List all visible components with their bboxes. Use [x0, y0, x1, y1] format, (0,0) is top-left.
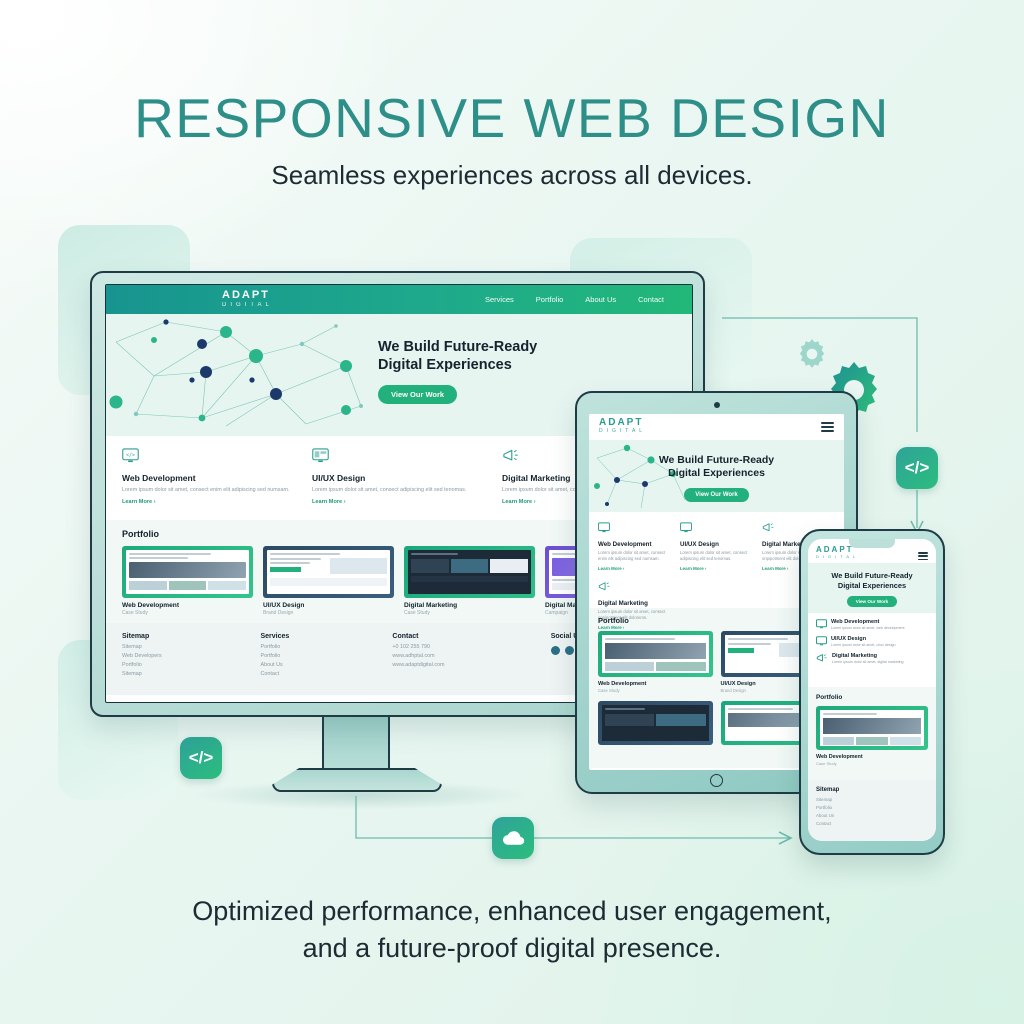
- code-window-icon: [598, 522, 610, 533]
- phone-screen: ADAPT DIGITAL We Build Future-Ready Digi…: [808, 539, 936, 841]
- tablet-hamburger-menu-icon[interactable]: [821, 422, 834, 432]
- code-badge-right: </>: [896, 447, 938, 489]
- service-card-body: Lorem ipsum dolor sit amet, consect enim…: [598, 550, 671, 562]
- hero-title-line-1: We Build Future-Ready: [659, 454, 774, 466]
- service-card-body: Lorem ipsum dolor sit amet, consect adip…: [680, 550, 753, 562]
- service-item-title: UI/UX Design: [831, 636, 896, 642]
- footer-link[interactable]: Contact: [261, 671, 393, 677]
- page-footnote: Optimized performance, enhanced user eng…: [0, 893, 1024, 967]
- portfolio-thumbnail: [263, 546, 394, 598]
- footer-column: Services Portfolio Portfolio About Us Co…: [261, 633, 393, 695]
- footer-heading: Contact: [392, 633, 550, 640]
- nav-item-about[interactable]: About Us: [585, 295, 616, 304]
- footnote-line-2: and a future-proof digital presence.: [0, 930, 1024, 967]
- footer-link[interactable]: Portfolio: [816, 805, 928, 810]
- portfolio-thumbnail: [816, 706, 928, 750]
- service-card-title: Web Development: [122, 473, 296, 483]
- list-item[interactable]: UI/UX Design Lorem ipsum dolor sit amet,…: [816, 636, 928, 647]
- nav-item-portfolio[interactable]: Portfolio: [536, 295, 564, 304]
- portfolio-caption: Web Development: [598, 681, 713, 687]
- phone-logo: ADAPT DIGITAL: [816, 546, 859, 560]
- phone-device: ADAPT DIGITAL We Build Future-Ready Digi…: [799, 529, 945, 855]
- portfolio-subcaption: Case Study: [816, 761, 928, 766]
- service-card-link[interactable]: Learn More ›: [122, 499, 296, 505]
- service-item-title: Web Development: [831, 619, 905, 625]
- portfolio-subcaption: Case Study: [404, 610, 535, 616]
- logo-sub: DIGITAL: [222, 301, 273, 310]
- footer-link[interactable]: About Us: [816, 813, 928, 818]
- service-item-body: Lorem ipsum dolor sit amet, ui/ux design: [831, 643, 896, 647]
- svg-text:</>: </>: [126, 453, 135, 459]
- code-window-icon: </>: [122, 448, 139, 463]
- desktop-logo: ADAPT DIGITAL: [122, 290, 273, 310]
- tablet-site-header: ADAPT DIGITAL: [589, 414, 844, 440]
- page-subtitle: Seamless experiences across all devices.: [0, 160, 1024, 191]
- page-title: RESPONSIVE WEB DESIGN: [0, 86, 1024, 150]
- portfolio-subcaption: Brand Design: [263, 610, 394, 616]
- logo-main: ADAPT: [599, 418, 646, 428]
- portfolio-caption: Digital Marketing: [404, 602, 535, 609]
- portfolio-caption: Web Development: [816, 754, 928, 760]
- service-item-body: Lorem ipsum dolor sit amet, web developm…: [831, 626, 905, 630]
- phone-services-list: Web Development Lorem ipsum dolor sit am…: [808, 613, 936, 687]
- hero-cta-button[interactable]: View Our Work: [847, 596, 898, 607]
- portfolio-thumbnail: [598, 631, 713, 677]
- portfolio-item[interactable]: Web Development Case Study: [122, 546, 253, 616]
- logo-sub: DIGITAL: [599, 428, 646, 436]
- portfolio-caption: UI/UX Design: [263, 602, 394, 609]
- service-card-body: Lorem ipsum dolor sit amet, consect adip…: [312, 486, 486, 494]
- desktop-site-header: ADAPT DIGITAL Services Portfolio About U…: [106, 285, 692, 314]
- nav-item-services[interactable]: Services: [485, 295, 514, 304]
- phone-footer: Sitemap Sitemap Portfolio About Us Conta…: [808, 780, 936, 841]
- footer-link[interactable]: Portfolio: [261, 644, 393, 650]
- cloud-badge: [492, 817, 534, 859]
- phone-portfolio-band: Portfolio Web Development Case Study: [808, 687, 936, 780]
- tablet-hero-copy: We Build Future-Ready Digital Experience…: [589, 440, 844, 502]
- portfolio-thumbnail: [122, 546, 253, 598]
- footer-column: Sitemap Sitemap Web Developers Portfolio…: [122, 633, 261, 695]
- footer-link[interactable]: Sitemap: [122, 644, 261, 650]
- megaphone-icon: [762, 522, 775, 533]
- list-item[interactable]: Digital Marketing Lorem ipsum dolor sit …: [816, 653, 928, 664]
- hero-title-line-2: Digital Experiences: [838, 581, 906, 590]
- nav-item-contact[interactable]: Contact: [638, 295, 664, 304]
- phone-hamburger-menu-icon[interactable]: [918, 552, 928, 560]
- footer-contact-phone[interactable]: +0 102 255 790: [392, 644, 550, 650]
- service-card-link[interactable]: Learn More ›: [312, 499, 486, 505]
- service-card-title: UI/UX Design: [312, 473, 486, 483]
- footer-contact-site[interactable]: www.adaptdigital.com: [392, 662, 550, 668]
- portfolio-thumbnail: [598, 701, 713, 745]
- footnote-line-1: Optimized performance, enhanced user eng…: [0, 893, 1024, 930]
- portfolio-heading: Portfolio: [816, 694, 928, 701]
- megaphone-icon: [502, 448, 520, 463]
- service-card[interactable]: UI/UX Design Lorem ipsum dolor sit amet,…: [312, 448, 486, 520]
- service-card[interactable]: Web Development Lorem ipsum dolor sit am…: [598, 520, 671, 571]
- tablet-hero: We Build Future-Ready Digital Experience…: [589, 440, 844, 512]
- service-card-link[interactable]: Learn More ›: [680, 566, 753, 571]
- cloud-icon: [502, 830, 525, 846]
- service-card-title: Web Development: [598, 541, 671, 548]
- phone-hero: We Build Future-Ready Digital Experience…: [808, 563, 936, 613]
- code-badge-left: </>: [180, 737, 222, 779]
- tablet-camera: [714, 402, 720, 408]
- desktop-nav: Services Portfolio About Us Contact: [485, 295, 678, 304]
- footer-link[interactable]: Sitemap: [816, 797, 928, 802]
- footer-heading: Sitemap: [122, 633, 261, 640]
- portfolio-item[interactable]: UI/UX Design Brand Design: [263, 546, 394, 616]
- footer-link[interactable]: Contact: [816, 821, 928, 826]
- tablet-home-button[interactable]: [710, 774, 723, 787]
- service-card[interactable]: UI/UX Design Lorem ipsum dolor sit amet,…: [680, 520, 753, 571]
- footer-link[interactable]: Web Developers: [122, 653, 261, 659]
- portfolio-item[interactable]: Web Development Case Study: [598, 631, 713, 693]
- portfolio-item[interactable]: Digital Marketing Case Study: [404, 546, 535, 616]
- footer-link[interactable]: Portfolio: [261, 653, 393, 659]
- hero-title-line-2: Digital Experiences: [378, 357, 512, 373]
- portfolio-caption: Web Development: [122, 602, 253, 609]
- service-card[interactable]: </> Web Development Lorem ipsum dolor si…: [122, 448, 296, 520]
- desktop-hero-copy: We Build Future-Ready Digital Experience…: [106, 314, 692, 404]
- list-item[interactable]: Web Development Lorem ipsum dolor sit am…: [816, 619, 928, 630]
- portfolio-subcaption: Case Study: [598, 688, 713, 693]
- service-item-title: Digital Marketing: [832, 653, 904, 659]
- footer-heading: Sitemap: [816, 787, 928, 793]
- service-item-body: Lorem ipsum dolor sit amet, digital mark…: [832, 660, 904, 664]
- layout-design-icon: [680, 522, 692, 533]
- logo-main: ADAPT: [222, 290, 273, 301]
- footer-link[interactable]: About Us: [261, 662, 393, 668]
- portfolio-item[interactable]: Web Development Case Study: [816, 706, 928, 766]
- service-card-body: Lorem ipsum dolor sit amet, consect enim…: [122, 486, 296, 494]
- hero-title-line-1: We Build Future-Ready: [378, 339, 537, 355]
- instagram-icon[interactable]: [565, 646, 574, 655]
- tablet-logo: ADAPT DIGITAL: [599, 418, 646, 436]
- gear-icon-small: [795, 337, 829, 371]
- service-card-title: Digital Marketing: [598, 600, 676, 607]
- layout-design-icon: [816, 636, 827, 646]
- footer-column: Contact +0 102 255 790 www.adhptal.com w…: [392, 633, 550, 695]
- code-window-icon: [816, 619, 827, 629]
- logo-sub: DIGITAL: [816, 554, 859, 560]
- footer-link[interactable]: Portfolio: [122, 662, 261, 668]
- hero-title-line-2: Digital Experiences: [668, 467, 765, 479]
- layout-design-icon: [312, 448, 329, 463]
- monitor-base: [272, 768, 442, 792]
- service-card-link[interactable]: Learn More ›: [598, 566, 671, 571]
- hero-title-line-1: We Build Future-Ready: [831, 571, 912, 580]
- megaphone-icon: [598, 581, 611, 592]
- portfolio-subcaption: Case Study: [122, 610, 253, 616]
- footer-link[interactable]: Sitemap: [122, 671, 261, 677]
- hero-cta-button[interactable]: View Our Work: [684, 488, 748, 502]
- facebook-icon[interactable]: [551, 646, 560, 655]
- hero-cta-button[interactable]: View Our Work: [378, 385, 457, 404]
- megaphone-icon: [816, 653, 828, 663]
- footer-heading: Services: [261, 633, 393, 640]
- footer-contact-email[interactable]: www.adhptal.com: [392, 653, 550, 659]
- phone-notch: [849, 539, 895, 548]
- portfolio-item[interactable]: [598, 701, 713, 745]
- portfolio-thumbnail: [404, 546, 535, 598]
- service-card-title: UI/UX Design: [680, 541, 753, 548]
